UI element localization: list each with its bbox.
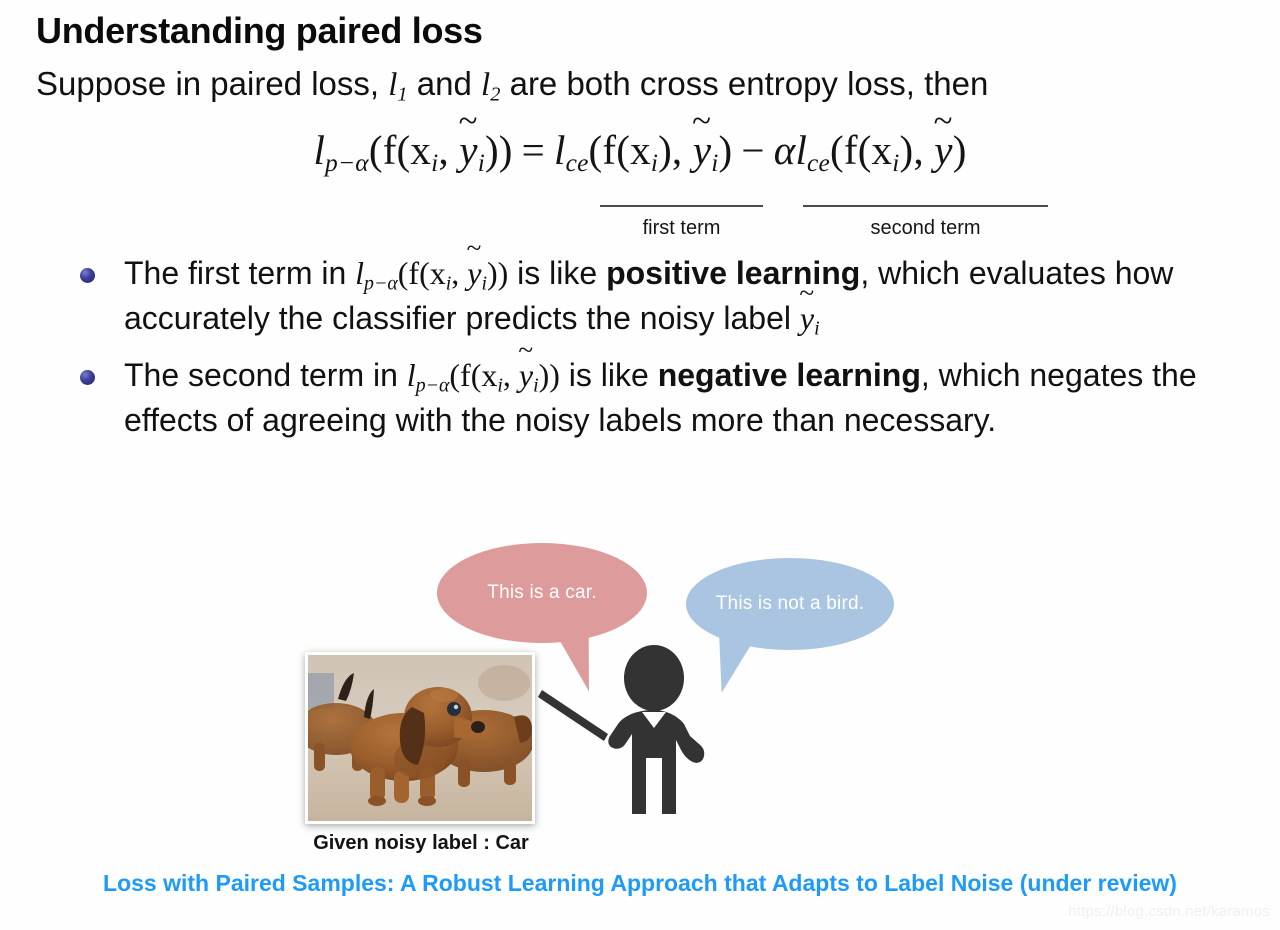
eq-first-term: lce(f(xi), ~yi): [554, 127, 732, 173]
bullet-math-noisy-label: ~yi: [800, 300, 820, 336]
speech-bubble-pink-text: This is a car.: [487, 582, 596, 604]
first-term-label: first term: [600, 217, 763, 240]
bullet-list: The first term in lp−α(f(xi, ~yi)) is li…: [72, 252, 1272, 454]
intro-symbol-l2: l2: [481, 67, 500, 103]
speech-bubble-blue: This is not a bird.: [686, 558, 894, 650]
page-title: Understanding paired loss: [36, 12, 483, 50]
intro-text-part2: and: [408, 65, 481, 102]
speech-bubble-blue-text: This is not a bird.: [716, 593, 864, 615]
display-equation-block: lp−α(f(xi, ~yi))=lce(f(xi), ~yi)−αlce(f(…: [0, 126, 1280, 179]
eq-equals-sign: =: [513, 127, 554, 173]
second-term-label: second term: [803, 217, 1048, 240]
bullet-emphasis: negative learning: [658, 357, 921, 393]
speech-bubble-pink: This is a car.: [437, 543, 647, 643]
dog-photo-image: [308, 655, 532, 821]
display-equation: lp−α(f(xi, ~yi))=lce(f(xi), ~yi)−αlce(f(…: [313, 126, 966, 179]
bullet-emphasis: positive learning: [606, 255, 860, 291]
bullet-text: The first term in lp−α(f(xi, ~yi)) is li…: [124, 255, 1173, 336]
bullet-dot-icon: [80, 268, 95, 283]
intro-symbol-l1: l1: [388, 67, 407, 103]
photo-caption: Given noisy label : Car: [290, 832, 552, 855]
eq-minus-sign: −: [732, 127, 773, 173]
illustration-area: This is a car. This is not a bird.: [0, 520, 1280, 860]
list-item: The second term in lp−α(f(xi, ~yi)) is l…: [72, 354, 1272, 442]
eq-lhs: lp−α(f(xi, ~yi)): [313, 127, 512, 173]
intro-sentence: Suppose in paired loss, l1 and l2 are bo…: [36, 64, 988, 107]
teacher-figure-icon: [536, 638, 736, 860]
list-item: The first term in lp−α(f(xi, ~yi)) is li…: [72, 252, 1272, 342]
bullet-text: The second term in lp−α(f(xi, ~yi)) is l…: [124, 357, 1197, 438]
paper-reference-caption: Loss with Paired Samples: A Robust Learn…: [0, 870, 1280, 897]
slide-canvas: Understanding paired loss Suppose in pai…: [0, 0, 1280, 930]
puppy-illustration: [308, 655, 532, 821]
bullet-math-expression: lp−α(f(xi, ~yi)): [355, 255, 508, 291]
intro-text-part1: Suppose in paired loss,: [36, 65, 388, 102]
watermark-text: https://blog.csdn.net/karamos: [1068, 903, 1270, 920]
first-term-rule: [600, 205, 763, 207]
bullet-dot-icon: [80, 370, 95, 385]
intro-text-part3: are both cross entropy loss, then: [500, 65, 988, 102]
bullet-math-expression: lp−α(f(xi, ~yi)): [407, 357, 560, 393]
term-annotations: first term second term: [0, 205, 1280, 251]
second-term-rule: [803, 205, 1048, 207]
teacher-silhouette-svg: [536, 638, 736, 860]
eq-second-term: αlce(f(xi), ~y): [774, 127, 967, 173]
dog-photo: [305, 652, 535, 824]
